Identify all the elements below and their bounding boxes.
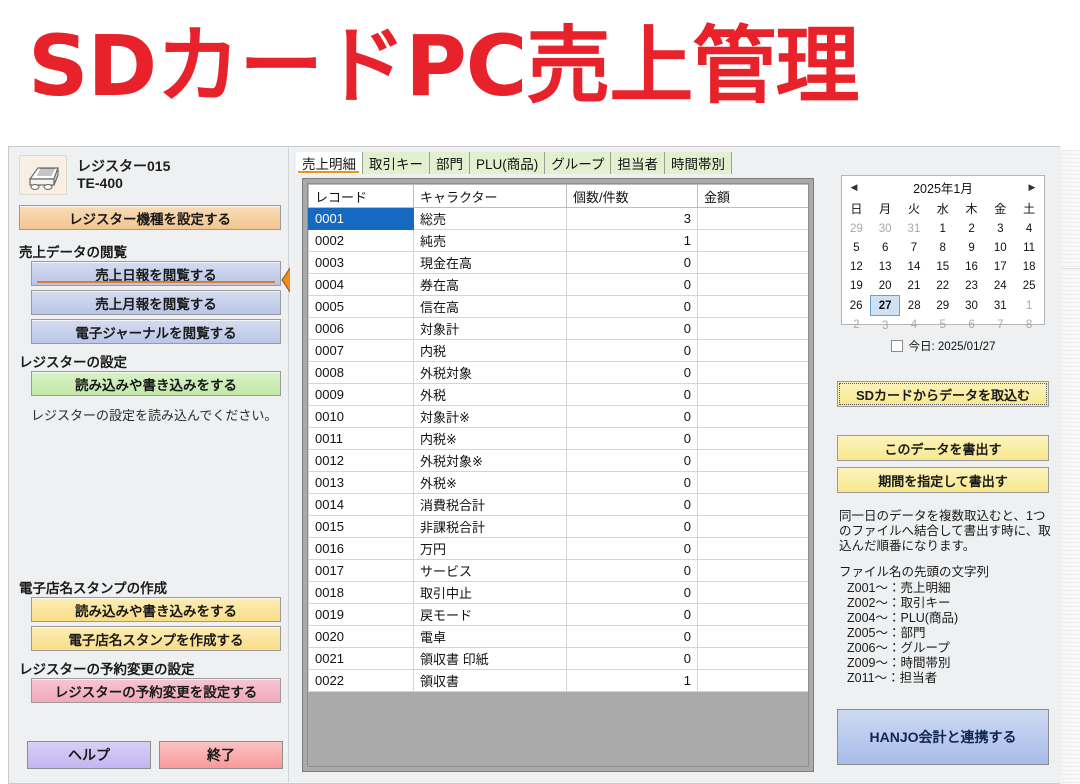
calendar-day[interactable]: 14	[900, 257, 929, 276]
tab-time-zone[interactable]: 時間帯別	[665, 152, 732, 174]
cell-character[interactable]: 券在高	[414, 274, 567, 296]
cell-character[interactable]: サービス	[414, 560, 567, 582]
column-header-amount[interactable]: 金額	[698, 185, 810, 208]
calendar-day[interactable]: 6	[957, 316, 986, 336]
app-title: SDカードPC売上管理	[28, 12, 858, 120]
table-row[interactable]: 0002純売1¥6,000	[309, 230, 810, 252]
calendar-day[interactable]: 10	[986, 238, 1015, 257]
cell-record[interactable]: 0006	[309, 318, 414, 340]
cell-record[interactable]: 0008	[309, 362, 414, 384]
import-from-sd-card-button[interactable]: SDカードからデータを取込む	[837, 381, 1049, 407]
calendar-day[interactable]: 16	[957, 257, 986, 276]
app-window: レジスター015 TE-400 レジスター機種を設定する 売上データの閲覧 売上…	[8, 146, 1060, 784]
table-row[interactable]: 0014消費税合計0¥545	[309, 494, 810, 516]
calendar-day[interactable]: 8	[1015, 316, 1044, 336]
cell-record[interactable]: 0016	[309, 538, 414, 560]
calendar-day[interactable]: 26	[842, 296, 871, 316]
cell-amount[interactable]: ¥0	[698, 516, 810, 538]
cell-record[interactable]: 0012	[309, 450, 414, 472]
create-store-stamp-button[interactable]: 電子店名スタンプを作成する	[31, 626, 281, 651]
cell-character[interactable]: 内税	[414, 340, 567, 362]
cell-amount[interactable]: ¥545	[698, 340, 810, 362]
cell-amount[interactable]: ¥0	[698, 626, 810, 648]
cell-quantity[interactable]: 0	[567, 494, 698, 516]
calendar-day[interactable]: 25	[1015, 276, 1044, 296]
filename-prefix-z006: Z006～：グループ	[847, 641, 950, 656]
cell-amount[interactable]: ¥6,000	[698, 230, 810, 252]
calendar-day[interactable]: 29	[842, 219, 871, 238]
calendar-day[interactable]: 4	[900, 316, 929, 336]
cell-quantity[interactable]: 0	[567, 604, 698, 626]
cell-character[interactable]: 外税※	[414, 472, 567, 494]
calendar-day[interactable]: 13	[871, 257, 900, 276]
cell-quantity[interactable]: 1	[567, 670, 698, 692]
cell-record[interactable]: 0021	[309, 648, 414, 670]
cell-record[interactable]: 0022	[309, 670, 414, 692]
export-this-data-button[interactable]: このデータを書出す	[837, 435, 1049, 461]
cell-quantity[interactable]: 0	[567, 274, 698, 296]
calendar-day[interactable]: 24	[986, 276, 1015, 296]
table-row[interactable]: 0007内税0¥545	[309, 340, 810, 362]
cell-quantity[interactable]: 0	[567, 538, 698, 560]
calendar-week-row: 19202122232425	[842, 276, 1044, 296]
calendar-day[interactable]: 15	[928, 257, 957, 276]
calendar-day[interactable]: 11	[1015, 238, 1044, 257]
view-electronic-journal-button[interactable]: 電子ジャーナルを閲覧する	[31, 319, 281, 344]
calendar-day[interactable]: 2	[842, 316, 871, 336]
filename-prefix-z005: Z005～：部門	[847, 626, 926, 641]
main-panel: 売上明細 取引キー 部門 PLU(商品) グループ 担当者 時間帯別 レコード …	[290, 147, 825, 783]
calendar-week-row: 2627282930311	[842, 296, 1044, 316]
set-reservation-change-button[interactable]: レジスターの予約変更を設定する	[31, 678, 281, 703]
calendar-title: 2025年1月	[913, 178, 973, 197]
cell-quantity[interactable]: 0	[567, 582, 698, 604]
right-panel: ◀ 2025年1月 ▶ 日月火水木金土 29303112345678910111…	[825, 147, 1061, 783]
calendar-day-rows: 2930311234567891011121314151617181920212…	[842, 219, 1044, 335]
section-label-reservation-change: レジスターの予約変更の設定	[19, 658, 195, 678]
cell-amount[interactable]: ¥0	[698, 428, 810, 450]
cell-character[interactable]: 非課税合計	[414, 516, 567, 538]
cell-amount[interactable]: ¥0	[698, 406, 810, 428]
table-row[interactable]: 0016万円0¥0	[309, 538, 810, 560]
calendar-day[interactable]: 1	[928, 219, 957, 238]
calendar-weekday: 水	[928, 198, 957, 219]
cell-amount[interactable]: ¥6,000	[698, 670, 810, 692]
calendar-day[interactable]: 17	[986, 257, 1015, 276]
cell-record[interactable]: 0017	[309, 560, 414, 582]
calendar-day[interactable]: 4	[1015, 219, 1044, 238]
table-row[interactable]: 0005信在高0¥0	[309, 296, 810, 318]
stamp-read-write-button[interactable]: 読み込みや書き込みをする	[31, 597, 281, 622]
cell-amount[interactable]: ¥0	[698, 582, 810, 604]
cell-record[interactable]: 0013	[309, 472, 414, 494]
cell-record[interactable]: 0019	[309, 604, 414, 626]
table-row[interactable]: 0001総売3¥6,000	[309, 208, 810, 230]
tab-transaction-key[interactable]: 取引キー	[363, 152, 430, 174]
chevron-left-icon[interactable]: ◀	[848, 181, 860, 193]
cell-quantity[interactable]: 0	[567, 406, 698, 428]
calendar-day[interactable]: 3	[986, 219, 1015, 238]
table-body: 0001総売3¥6,0000002純売1¥6,0000003現金在高0¥6,00…	[309, 208, 810, 692]
calendar-day[interactable]: 22	[928, 276, 957, 296]
cell-character[interactable]: 現金在高	[414, 252, 567, 274]
calendar-day[interactable]: 30	[957, 296, 986, 316]
cell-amount[interactable]: ¥6,000	[698, 318, 810, 340]
cell-quantity[interactable]: 0	[567, 296, 698, 318]
calendar-day[interactable]: 8	[928, 238, 957, 257]
cell-amount[interactable]: ¥0	[698, 604, 810, 626]
cell-amount[interactable]: ¥0	[698, 450, 810, 472]
export-by-period-button[interactable]: 期間を指定して書出す	[837, 467, 1049, 493]
cell-quantity[interactable]: 0	[567, 516, 698, 538]
column-header-character[interactable]: キャラクター	[414, 185, 567, 208]
table-row[interactable]: 0008外税対象0¥0	[309, 362, 810, 384]
hanjo-accounting-link-button[interactable]: HANJO会計と連携する	[837, 709, 1049, 765]
help-button[interactable]: ヘルプ	[27, 741, 151, 769]
table-row[interactable]: 0019戻モード0¥0	[309, 604, 810, 626]
calendar-weekday: 火	[900, 198, 929, 219]
cell-quantity[interactable]: 0	[567, 648, 698, 670]
calendar-day[interactable]: 6	[871, 238, 900, 257]
calendar-day[interactable]: 5	[842, 238, 871, 257]
calendar-week-row: 2930311234	[842, 219, 1044, 238]
calendar-day[interactable]: 20	[871, 276, 900, 296]
calendar-day[interactable]: 7	[986, 316, 1015, 336]
calendar-weekday: 木	[957, 198, 986, 219]
tab-sales-detail[interactable]: 売上明細	[296, 152, 363, 174]
cell-record[interactable]: 0015	[309, 516, 414, 538]
filename-prefix-z002: Z002～：取引キー	[847, 596, 951, 611]
cell-record[interactable]: 0011	[309, 428, 414, 450]
tab-group[interactable]: グループ	[545, 152, 611, 174]
sales-detail-table-scroll[interactable]: レコード キャラクター 個数/件数 金額 0001総売3¥6,0000002純売…	[307, 183, 809, 767]
calendar-day[interactable]: 3	[871, 316, 900, 336]
cell-record[interactable]: 0014	[309, 494, 414, 516]
cell-quantity[interactable]: 0	[567, 340, 698, 362]
cell-character[interactable]: 対象計	[414, 318, 567, 340]
table-row[interactable]: 0003現金在高0¥6,000	[309, 252, 810, 274]
section-label-store-stamp: 電子店名スタンプの作成	[19, 577, 167, 597]
cell-quantity[interactable]: 0	[567, 428, 698, 450]
calendar-day[interactable]: 29	[928, 296, 957, 316]
table-row[interactable]: 0004券在高0¥0	[309, 274, 810, 296]
cell-quantity[interactable]: 0	[567, 252, 698, 274]
filename-prefix-title: ファイル名の先頭の文字列	[839, 565, 989, 580]
calendar-day[interactable]: 12	[842, 257, 871, 276]
table-row[interactable]: 0022領収書1¥6,000	[309, 670, 810, 692]
column-header-record[interactable]: レコード	[309, 185, 414, 208]
cell-character[interactable]: 内税※	[414, 428, 567, 450]
cell-quantity[interactable]: 0	[567, 472, 698, 494]
tab-department[interactable]: 部門	[430, 152, 470, 174]
cell-quantity[interactable]: 0	[567, 560, 698, 582]
table-header-row: レコード キャラクター 個数/件数 金額	[309, 185, 810, 208]
calendar-footer: 今日: 2025/01/27	[842, 338, 1044, 354]
calendar-day-selected[interactable]: 27	[871, 296, 900, 316]
cell-amount[interactable]: ¥0	[698, 648, 810, 670]
filename-prefix-z001: Z001～：売上明細	[847, 581, 951, 596]
table-row[interactable]: 0009外税0¥0	[309, 384, 810, 406]
settings-note: レジスターの設定を読み込んでください。	[31, 405, 277, 424]
sales-detail-table: レコード キャラクター 個数/件数 金額 0001総売3¥6,0000002純売…	[308, 184, 809, 692]
table-row[interactable]: 0021領収書 印紙0¥0	[309, 648, 810, 670]
table-row[interactable]: 0010対象計※0¥0	[309, 406, 810, 428]
filename-prefix-z011: Z011～：担当者	[847, 671, 937, 686]
cell-amount[interactable]: ¥0	[698, 560, 810, 582]
cell-character[interactable]: 取引中止	[414, 582, 567, 604]
cell-character[interactable]: 純売	[414, 230, 567, 252]
table-row[interactable]: 0006対象計0¥6,000	[309, 318, 810, 340]
filename-prefix-z004: Z004～：PLU(商品)	[847, 611, 958, 626]
chevron-right-icon[interactable]: ▶	[1026, 181, 1038, 193]
cell-amount[interactable]: ¥6,000	[698, 208, 810, 230]
today-label: 今日: 2025/01/27	[909, 338, 996, 354]
cell-quantity[interactable]: 0	[567, 362, 698, 384]
table-row[interactable]: 0012外税対象※0¥0	[309, 450, 810, 472]
import-order-note: 同一日のデータを複数取込むと、1つ のファイルへ結合して書出す時に、取 込んだ順…	[839, 509, 1051, 554]
calendar-week-row: 2345678	[842, 316, 1044, 336]
register-model: TE-400	[77, 175, 123, 191]
cell-amount[interactable]: ¥0	[698, 362, 810, 384]
cell-amount[interactable]: ¥0	[698, 384, 810, 406]
cell-character[interactable]: 消費税合計	[414, 494, 567, 516]
cell-quantity[interactable]: 1	[567, 230, 698, 252]
calendar-header: ◀ 2025年1月 ▶	[842, 176, 1044, 198]
table-row[interactable]: 0018取引中止0¥0	[309, 582, 810, 604]
sidebar: レジスター015 TE-400 レジスター機種を設定する 売上データの閲覧 売上…	[9, 147, 289, 783]
cell-record[interactable]: 0004	[309, 274, 414, 296]
date-picker-calendar[interactable]: ◀ 2025年1月 ▶ 日月火水木金土 29303112345678910111…	[841, 175, 1045, 325]
cell-character[interactable]: 外税対象※	[414, 450, 567, 472]
cell-amount[interactable]: ¥0	[698, 538, 810, 560]
title-banner: SDカードPC売上管理	[0, 0, 1080, 146]
tabstrip: 売上明細 取引キー 部門 PLU(商品) グループ 担当者 時間帯別	[296, 152, 732, 174]
calendar-day[interactable]: 7	[900, 238, 929, 257]
table-row[interactable]: 0011内税※0¥0	[309, 428, 810, 450]
calendar-day[interactable]: 31	[900, 219, 929, 238]
cell-amount[interactable]: ¥545	[698, 494, 810, 516]
calendar-day[interactable]: 18	[1015, 257, 1044, 276]
calendar-day[interactable]: 31	[986, 296, 1015, 316]
cash-register-icon	[19, 155, 67, 195]
cell-record[interactable]: 0009	[309, 384, 414, 406]
cell-record[interactable]: 0002	[309, 230, 414, 252]
cell-record[interactable]: 0007	[309, 340, 414, 362]
calendar-weekday: 土	[1015, 198, 1044, 219]
calendar-weekday: 月	[871, 198, 900, 219]
cell-quantity[interactable]: 0	[567, 318, 698, 340]
table-row[interactable]: 0020電卓0¥0	[309, 626, 810, 648]
view-daily-report-button[interactable]: 売上日報を閲覧する	[31, 261, 281, 286]
section-label-sales-view: 売上データの閲覧	[19, 241, 127, 261]
cell-quantity[interactable]: 0	[567, 450, 698, 472]
cell-character[interactable]: 総売	[414, 208, 567, 230]
cell-character[interactable]: 領収書	[414, 670, 567, 692]
cell-character[interactable]: 電卓	[414, 626, 567, 648]
today-checkbox[interactable]	[891, 340, 903, 352]
settings-read-write-button[interactable]: 読み込みや書き込みをする	[31, 371, 281, 396]
calendar-day[interactable]: 21	[900, 276, 929, 296]
tab-plu-product[interactable]: PLU(商品)	[470, 152, 545, 174]
calendar-day[interactable]: 5	[928, 316, 957, 336]
calendar-day[interactable]: 19	[842, 276, 871, 296]
cell-record[interactable]: 0010	[309, 406, 414, 428]
cell-quantity[interactable]: 0	[567, 384, 698, 406]
cell-character[interactable]: 領収書 印紙	[414, 648, 567, 670]
register-header: レジスター015 TE-400	[19, 155, 281, 197]
sales-detail-table-frame: レコード キャラクター 個数/件数 金額 0001総売3¥6,0000002純売…	[302, 178, 814, 772]
calendar-week-row: 12131415161718	[842, 257, 1044, 276]
cell-amount[interactable]: ¥0	[698, 296, 810, 318]
cell-quantity[interactable]: 3	[567, 208, 698, 230]
section-label-register-settings: レジスターの設定	[19, 351, 127, 371]
cell-character[interactable]: 対象計※	[414, 406, 567, 428]
filename-prefix-z009: Z009～：時間帯別	[847, 656, 951, 671]
cell-character[interactable]: 外税	[414, 384, 567, 406]
cell-record[interactable]: 0001	[309, 208, 414, 230]
tab-clerk[interactable]: 担当者	[611, 152, 665, 174]
calendar-weekday-row: 日月火水木金土	[842, 198, 1044, 219]
cell-character[interactable]: 外税対象	[414, 362, 567, 384]
calendar-day[interactable]: 9	[957, 238, 986, 257]
cell-quantity[interactable]: 0	[567, 626, 698, 648]
cell-character[interactable]: 戻モード	[414, 604, 567, 626]
quit-button[interactable]: 終了	[159, 741, 283, 769]
setup-register-model-button[interactable]: レジスター機種を設定する	[19, 205, 281, 230]
screen-root: ))( SDカードPC売上管理 レジスター	[0, 0, 1080, 784]
cell-amount[interactable]: ¥0	[698, 472, 810, 494]
cell-character[interactable]: 万円	[414, 538, 567, 560]
calendar-day[interactable]: 28	[900, 296, 929, 316]
calendar-weekday: 金	[986, 198, 1015, 219]
calendar-week-row: 567891011	[842, 238, 1044, 257]
view-monthly-report-button[interactable]: 売上月報を閲覧する	[31, 290, 281, 315]
column-header-quantity[interactable]: 個数/件数	[567, 185, 698, 208]
cell-record[interactable]: 0005	[309, 296, 414, 318]
calendar-day[interactable]: 30	[871, 219, 900, 238]
cell-record[interactable]: 0003	[309, 252, 414, 274]
calendar-day[interactable]: 23	[957, 276, 986, 296]
cell-record[interactable]: 0020	[309, 626, 414, 648]
cell-record[interactable]: 0018	[309, 582, 414, 604]
calendar-weekday: 日	[842, 198, 871, 219]
register-name: レジスター015	[77, 156, 170, 176]
cell-character[interactable]: 信在高	[414, 296, 567, 318]
calendar-day[interactable]: 2	[957, 219, 986, 238]
table-row[interactable]: 0015非課税合計0¥0	[309, 516, 810, 538]
calendar-day[interactable]: 1	[1015, 296, 1044, 316]
cell-amount[interactable]: ¥6,000	[698, 252, 810, 274]
calendar-grid: 日月火水木金土 29303112345678910111213141516171…	[842, 198, 1044, 335]
table-row[interactable]: 0017サービス0¥0	[309, 560, 810, 582]
cell-amount[interactable]: ¥0	[698, 274, 810, 296]
table-row[interactable]: 0013外税※0¥0	[309, 472, 810, 494]
